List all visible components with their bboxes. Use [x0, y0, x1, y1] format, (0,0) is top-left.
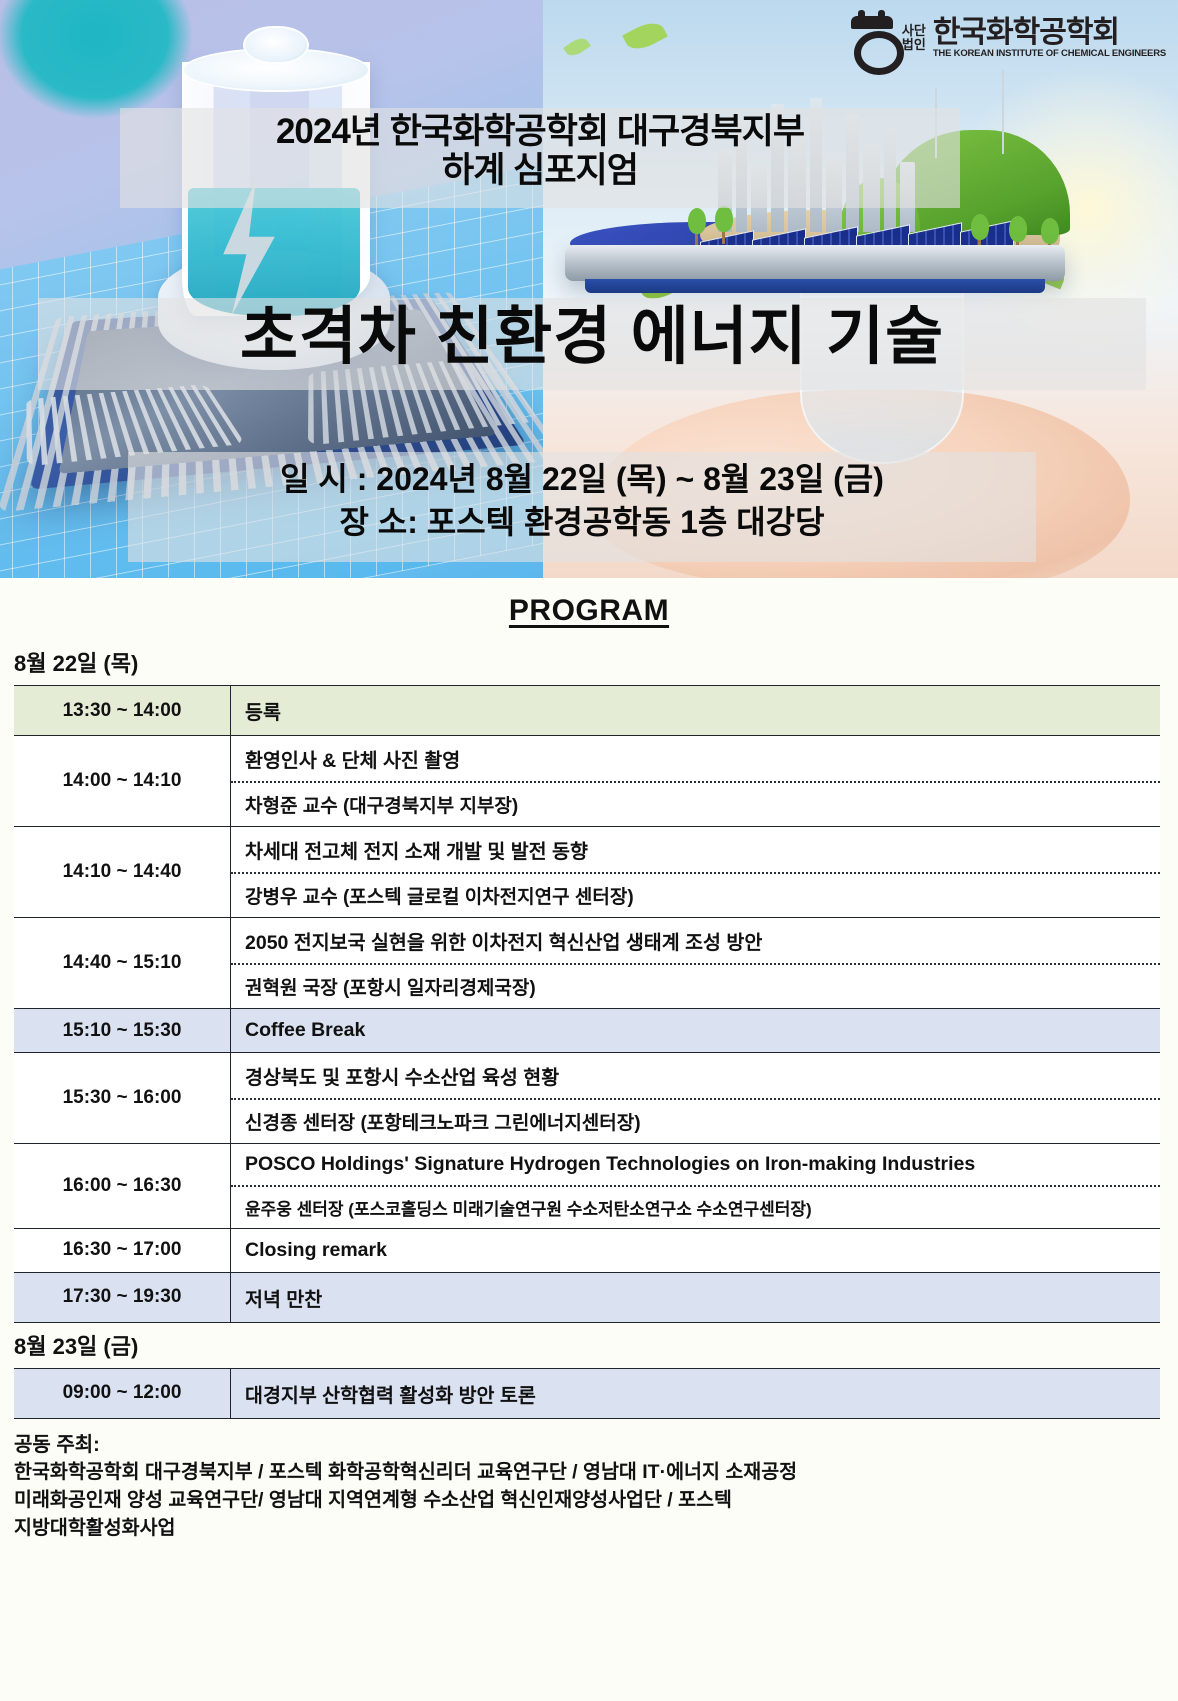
event-title-line2: 하계 심포지엄 — [120, 151, 960, 190]
row-time: 15:30 ~ 16:00 — [14, 1053, 231, 1144]
organizers-line-2: 미래화공인재 양성 교육연구단/ 영남대 지역연계형 수소산업 혁신인재양성사업… — [14, 1487, 1178, 1515]
corporate-prefix-line1: 사단 — [902, 24, 926, 38]
organizers-title: 공동 주최: — [14, 1431, 1178, 1459]
poster-root: 사단 법인 한국화학공학회 THE KOREAN INSTITUTE OF CH… — [0, 0, 1178, 1701]
event-info: 일 시 : 2024년 8월 22일 (목) ~ 8월 23일 (금) 장 소:… — [128, 458, 1036, 544]
society-name-en: THE KOREAN INSTITUTE OF CHEMICAL ENGINEE… — [933, 48, 1166, 59]
society-name-kr: 한국화학공학회 — [933, 18, 1166, 48]
program-table-day1: 13:30 ~ 14:00 등록 14:00 ~ 14:10 환영인사 & 단체… — [14, 685, 1160, 1323]
row-time: 16:30 ~ 17:00 — [14, 1228, 231, 1272]
island-slab-decor — [565, 245, 1065, 281]
row-body: 등록 — [231, 686, 1161, 736]
organizers-line-3: 지방대학활성화사업 — [14, 1515, 1178, 1543]
row-title: 차세대 전고체 전지 소재 개발 및 발전 동향 — [231, 827, 1160, 872]
row-speaker: 차형준 교수 (대구경북지부 지부장) — [231, 781, 1160, 826]
row-time: 09:00 ~ 12:00 — [14, 1368, 231, 1418]
day-label-2: 8월 23일 (금) — [0, 1323, 1178, 1368]
hero-banner: 사단 법인 한국화학공학회 THE KOREAN INSTITUTE OF CH… — [0, 0, 1178, 578]
row-speaker: 권혁원 국장 (포항시 일자리경제국장) — [231, 963, 1160, 1008]
table-row: 13:30 ~ 14:00 등록 — [14, 686, 1160, 736]
society-logo: 사단 법인 한국화학공학회 THE KOREAN INSTITUTE OF CH… — [849, 14, 1166, 62]
row-body: 환영인사 & 단체 사진 촬영 차형준 교수 (대구경북지부 지부장) — [231, 736, 1161, 827]
row-title: 경상북도 및 포항시 수소산업 육성 현황 — [231, 1053, 1160, 1098]
row-time: 16:00 ~ 16:30 — [14, 1144, 231, 1229]
table-row: 17:30 ~ 19:30 저녁 만찬 — [14, 1272, 1160, 1322]
table-row: 15:30 ~ 16:00 경상북도 및 포항시 수소산업 육성 현황 신경종 … — [14, 1053, 1160, 1144]
table-row: 14:00 ~ 14:10 환영인사 & 단체 사진 촬영 차형준 교수 (대구… — [14, 736, 1160, 827]
event-theme: 초격차 친환경 에너지 기술 — [38, 302, 1146, 373]
society-emblem-icon — [849, 14, 895, 62]
row-time: 17:30 ~ 19:30 — [14, 1272, 231, 1322]
row-title: 대경지부 산학협력 활성화 방안 토론 — [231, 1369, 1160, 1418]
row-speaker: 윤주웅 센터장 (포스코홀딩스 미래기술연구원 수소저탄소연구소 수소연구센터장… — [231, 1185, 1160, 1228]
row-body: POSCO Holdings' Signature Hydrogen Techn… — [231, 1144, 1161, 1229]
table-row: 15:10 ~ 15:30 Coffee Break — [14, 1009, 1160, 1053]
program-table-day2: 09:00 ~ 12:00 대경지부 산학협력 활성화 방안 토론 — [14, 1368, 1160, 1419]
event-date: 일 시 : 2024년 8월 22일 (목) ~ 8월 23일 (금) — [128, 458, 1036, 501]
row-title: 저녁 만찬 — [231, 1273, 1160, 1322]
program-section: PROGRAM 8월 22일 (목) 13:30 ~ 14:00 등록 14:0… — [0, 578, 1178, 1542]
table-row: 16:30 ~ 17:00 Closing remark — [14, 1228, 1160, 1272]
row-body: 저녁 만찬 — [231, 1272, 1161, 1322]
day-label-1: 8월 22일 (목) — [0, 640, 1178, 685]
island-slab-underside-decor — [585, 279, 1045, 293]
row-body: 대경지부 산학협력 활성화 방안 토론 — [231, 1368, 1161, 1418]
row-time: 14:40 ~ 15:10 — [14, 918, 231, 1009]
row-speaker: 강병우 교수 (포스텍 글로컬 이차전지연구 센터장) — [231, 872, 1160, 917]
row-title: 등록 — [231, 686, 1160, 735]
row-body: 2050 전지보국 실현을 위한 이차전지 혁신산업 생태계 조성 방안 권혁원… — [231, 918, 1161, 1009]
row-body: Coffee Break — [231, 1009, 1161, 1053]
row-time: 13:30 ~ 14:00 — [14, 686, 231, 736]
row-title: 환영인사 & 단체 사진 촬영 — [231, 736, 1160, 781]
row-body: 차세대 전고체 전지 소재 개발 및 발전 동향 강병우 교수 (포스텍 글로컬… — [231, 827, 1161, 918]
corporate-prefix: 사단 법인 — [902, 24, 926, 51]
row-time: 14:10 ~ 14:40 — [14, 827, 231, 918]
battery-terminal-decor — [243, 26, 309, 64]
program-heading: PROGRAM — [0, 578, 1178, 640]
row-title: Coffee Break — [231, 1009, 1160, 1052]
event-title-line1: 2024년 한국화학공학회 대구경북지부 — [120, 112, 960, 151]
row-title: Closing remark — [231, 1229, 1160, 1272]
table-row: 09:00 ~ 12:00 대경지부 산학협력 활성화 방안 토론 — [14, 1368, 1160, 1418]
row-speaker: 신경종 센터장 (포항테크노파크 그린에너지센터장) — [231, 1098, 1160, 1143]
row-body: Closing remark — [231, 1228, 1161, 1272]
event-place: 장 소: 포스텍 환경공학동 1층 대강당 — [128, 501, 1036, 544]
row-body: 경상북도 및 포항시 수소산업 육성 현황 신경종 센터장 (포항테크노파크 그… — [231, 1053, 1161, 1144]
table-row: 16:00 ~ 16:30 POSCO Holdings' Signature … — [14, 1144, 1160, 1229]
table-row: 14:40 ~ 15:10 2050 전지보국 실현을 위한 이차전지 혁신산업… — [14, 918, 1160, 1009]
organizers-line-1: 한국화학공학회 대구경북지부 / 포스텍 화학공학혁신리더 교육연구단 / 영남… — [14, 1459, 1178, 1487]
row-title: POSCO Holdings' Signature Hydrogen Techn… — [231, 1144, 1160, 1185]
organizers-footer: 공동 주최: 한국화학공학회 대구경북지부 / 포스텍 화학공학혁신리더 교육연… — [0, 1419, 1178, 1542]
table-row: 14:10 ~ 14:40 차세대 전고체 전지 소재 개발 및 발전 동향 강… — [14, 827, 1160, 918]
corporate-prefix-line2: 법인 — [902, 38, 926, 52]
row-title: 2050 전지보국 실현을 위한 이차전지 혁신산업 생태계 조성 방안 — [231, 918, 1160, 963]
row-time: 15:10 ~ 15:30 — [14, 1009, 231, 1053]
event-title: 2024년 한국화학공학회 대구경북지부 하계 심포지엄 — [120, 112, 960, 190]
row-time: 14:00 ~ 14:10 — [14, 736, 231, 827]
society-name-block: 한국화학공학회 THE KOREAN INSTITUTE OF CHEMICAL… — [933, 18, 1166, 59]
